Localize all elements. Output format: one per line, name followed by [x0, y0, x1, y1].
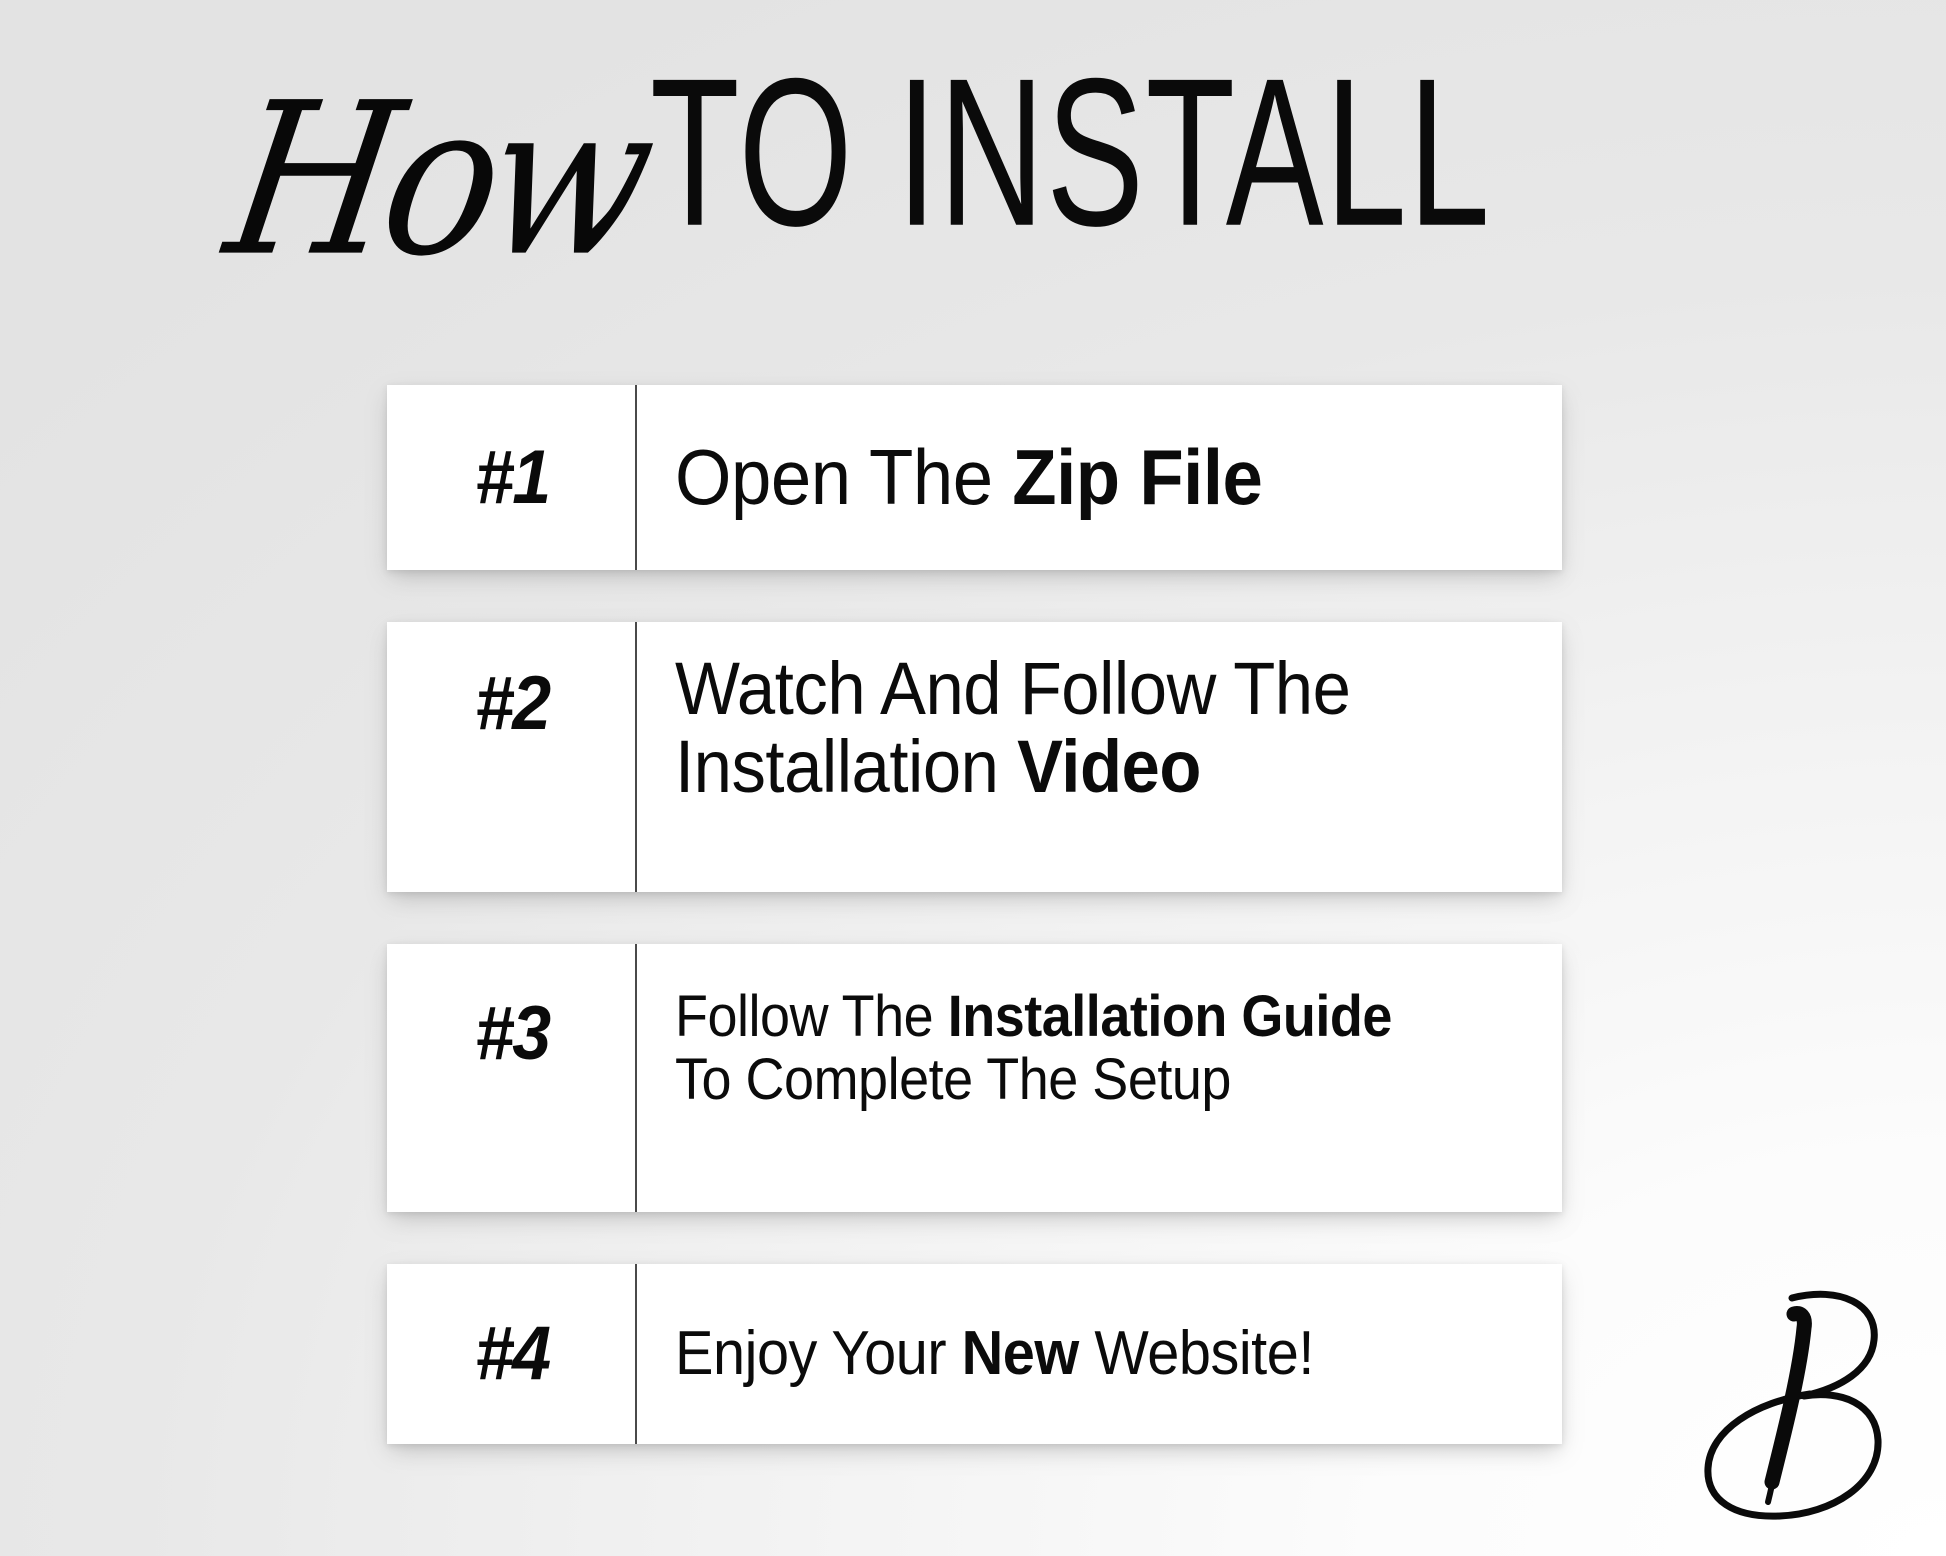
step-text-plain-tail: Website!	[1079, 1319, 1314, 1388]
step-text-emphasis: Video	[1017, 725, 1201, 808]
step-number: #2	[475, 666, 549, 742]
script-b-signature-icon	[1664, 1278, 1894, 1528]
step-text-emphasis: Zip File	[1012, 433, 1262, 521]
step-text-plain: Follow The	[675, 984, 948, 1049]
step-number: #4	[475, 1316, 549, 1392]
step-text-cell: Open The Zip File	[637, 385, 1562, 570]
step-text-line: Installation Video	[675, 728, 1478, 806]
page-title: HowTO INSTALL	[0, 58, 1946, 275]
step-text-plain: Enjoy Your	[675, 1319, 962, 1388]
step-number-cell: #1	[387, 385, 637, 570]
step-text-plain: To Complete The Setup	[675, 1047, 1231, 1112]
step-card: #3 Follow The Installation Guide To Comp…	[387, 944, 1562, 1212]
step-text-line: Watch And Follow The	[675, 650, 1478, 728]
step-text-plain: Watch And Follow The	[675, 647, 1350, 730]
step-text-line: Open The Zip File	[675, 438, 1478, 518]
step-text-cell: Watch And Follow The Installation Video	[637, 622, 1562, 892]
step-card: #2 Watch And Follow The Installation Vid…	[387, 622, 1562, 892]
page-title-roman-words: TO INSTALL	[650, 47, 1491, 258]
step-card: #1 Open The Zip File	[387, 385, 1562, 570]
step-text-line: Enjoy Your New Website!	[675, 1322, 1478, 1385]
step-text-plain: Open The	[675, 433, 1012, 521]
step-text-line: Follow The Installation Guide	[675, 986, 1478, 1049]
step-text-emphasis: New	[962, 1319, 1079, 1388]
steps-list: #1 Open The Zip File #2 Watch And Follow…	[387, 385, 1562, 1444]
step-number: #1	[475, 440, 549, 516]
step-number-cell: #3	[387, 944, 637, 1212]
step-text-emphasis: Installation Guide	[948, 984, 1392, 1049]
step-text-line: To Complete The Setup	[675, 1049, 1478, 1112]
step-number: #3	[475, 996, 549, 1072]
page-title-script-word: How	[216, 76, 657, 287]
step-number-cell: #2	[387, 622, 637, 892]
step-text-cell: Follow The Installation Guide To Complet…	[637, 944, 1562, 1212]
step-text-cell: Enjoy Your New Website!	[637, 1264, 1562, 1444]
step-number-cell: #4	[387, 1264, 637, 1444]
step-text-plain: Installation	[675, 725, 1017, 808]
step-card: #4 Enjoy Your New Website!	[387, 1264, 1562, 1444]
